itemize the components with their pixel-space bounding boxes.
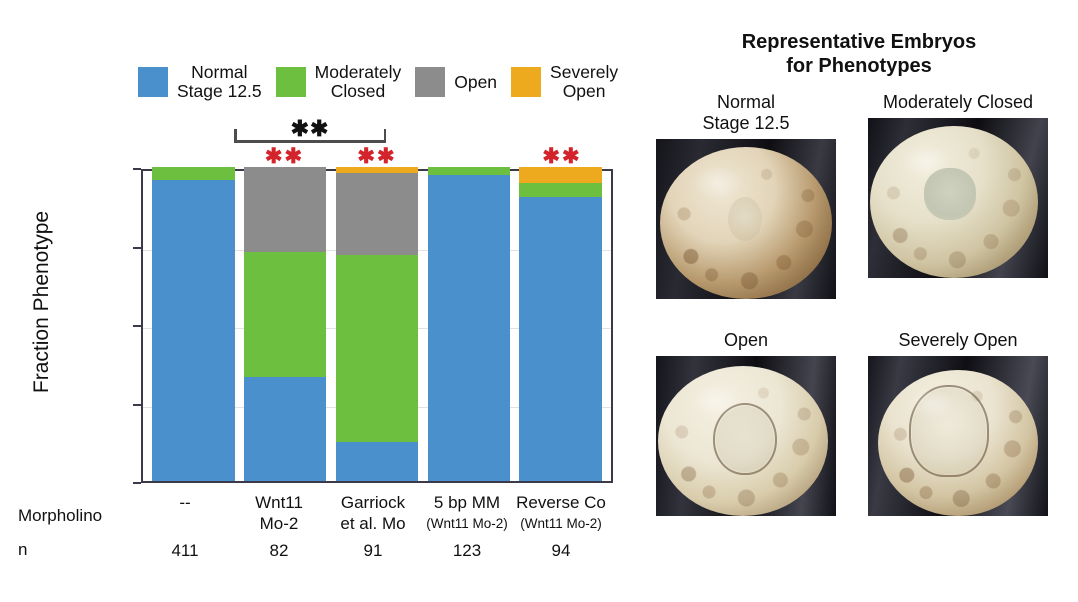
stacked-bar-chart-panel: Normal Stage 12.5 Moderately Closed Open… [0,0,632,602]
embryo-micrograph [868,118,1048,278]
chart-legend: Normal Stage 12.5 Moderately Closed Open… [138,60,634,104]
legend-label-open: Open [454,73,497,92]
bar-4 [428,167,510,481]
morpholino-name: -- [179,493,190,512]
morpholino-subnote: (Wnt11 Mo-2) [420,513,514,534]
morpholino-name: 5 bp MM [434,493,500,512]
bar-segment-normal-stage-12-5 [244,377,326,481]
legend-swatch-severely-open [511,67,541,97]
significance-stars-reverse-co: ✱✱ [538,146,586,167]
significance-bracket: ✱✱ [234,127,386,147]
n-value-cell: 91 [326,540,420,561]
n-value-cell: 82 [232,540,326,561]
bracket-line [234,140,386,143]
neural-plate-region [716,406,774,472]
morpholino-cell: Wnt11 Mo-2 [232,492,326,534]
bar-segment-open [336,173,418,255]
morpholino-cell: -- [138,492,232,534]
bracket-significance-stars: ✱✱ [234,118,386,140]
legend-label-normal: Normal Stage 12.5 [177,63,262,101]
significance-stars-wnt11-mo2: ✱✱ [260,146,308,167]
y-tick-mark [133,325,141,327]
embryo-micrograph [656,139,836,299]
legend-swatch-moderately-closed [276,67,306,97]
embryo-label: Normal Stage 12.5 [656,92,836,134]
bar-1 [152,167,234,481]
bar-5 [519,167,601,481]
table-row-morpholino: Morpholino --Wnt11 Mo-2Garriock et al. M… [18,492,632,534]
embryo-label: Open [656,330,836,351]
bar-segment-severely-open [519,167,601,183]
morpholino-cell: 5 bp MM(Wnt11 Mo-2) [420,492,514,534]
y-tick-mark [133,404,141,406]
bracket-cap-left [234,129,237,142]
bracket-cap-right [384,129,387,142]
bar-segment-moderately-closed [152,167,234,180]
embryo-label: Severely Open [868,330,1048,351]
embryo-cell-moderately-closed: Moderately Closed [868,92,1048,278]
representative-embryos-panel: Representative Embryos for Phenotypes No… [640,0,1078,602]
embryo-cell-open: Open [656,330,836,516]
legend-label-moderately-closed: Moderately Closed [315,63,402,101]
morpholino-name: Reverse Co [516,493,606,512]
y-tick-mark [133,247,141,249]
bar-segment-moderately-closed [428,167,510,175]
legend-item-moderately-closed: Moderately Closed [276,63,402,101]
row-header-morpholino: Morpholino [18,492,138,526]
table-row-n: n 411829112394 [18,540,632,561]
bar-segment-moderately-closed [336,255,418,442]
morpholino-name: Garriock et al. Mo [340,493,405,533]
embryo-label: Moderately Closed [868,92,1048,113]
legend-item-open: Open [415,67,497,97]
bar-segment-moderately-closed [244,252,326,378]
category-table: Morpholino --Wnt11 Mo-2Garriock et al. M… [18,492,632,561]
embryo-panel-title: Representative Embryos for Phenotypes [640,30,1078,78]
n-value-cell: 94 [514,540,608,561]
row-header-n: n [18,540,138,560]
significance-stars-garriock: ✱✱ [353,146,401,167]
bar-segment-normal-stage-12-5 [428,175,510,481]
neural-plate-region [728,197,762,241]
bar-segment-normal-stage-12-5 [336,442,418,481]
embryo-micrograph [656,356,836,516]
bar-2 [244,167,326,481]
bar-segment-moderately-closed [519,183,601,197]
legend-item-normal-stage-12-5: Normal Stage 12.5 [138,63,262,101]
morpholino-name: Wnt11 Mo-2 [255,493,303,533]
specular-highlight [689,384,740,417]
y-tick-mark [133,482,141,484]
embryo-micrograph [868,356,1048,516]
specular-highlight [907,388,955,420]
plot-area [141,169,613,483]
embryo-cell-severely-open: Severely Open [868,330,1048,516]
n-value-cell: 123 [420,540,514,561]
specular-highlight [691,165,743,198]
morpholino-cell: Garriock et al. Mo [326,492,420,534]
bar-3 [336,167,418,481]
y-tick-mark [133,168,141,170]
legend-swatch-open [415,67,445,97]
n-value-cell: 411 [138,540,232,561]
embryo-cell-normal-stage-12-5: Normal Stage 12.5 [656,92,836,299]
legend-swatch-normal [138,67,168,97]
bar-group [143,171,611,481]
morpholino-cell: Reverse Co(Wnt11 Mo-2) [514,492,608,534]
bar-segment-open [244,167,326,252]
bar-segment-normal-stage-12-5 [519,197,601,481]
bar-segment-normal-stage-12-5 [152,180,234,481]
morpholino-subnote: (Wnt11 Mo-2) [514,513,608,534]
specular-highlight [900,144,950,177]
legend-item-severely-open: Severely Open [511,63,618,101]
legend-label-severely-open: Severely Open [550,63,618,101]
y-axis-title: Fraction Phenotype [30,162,54,442]
